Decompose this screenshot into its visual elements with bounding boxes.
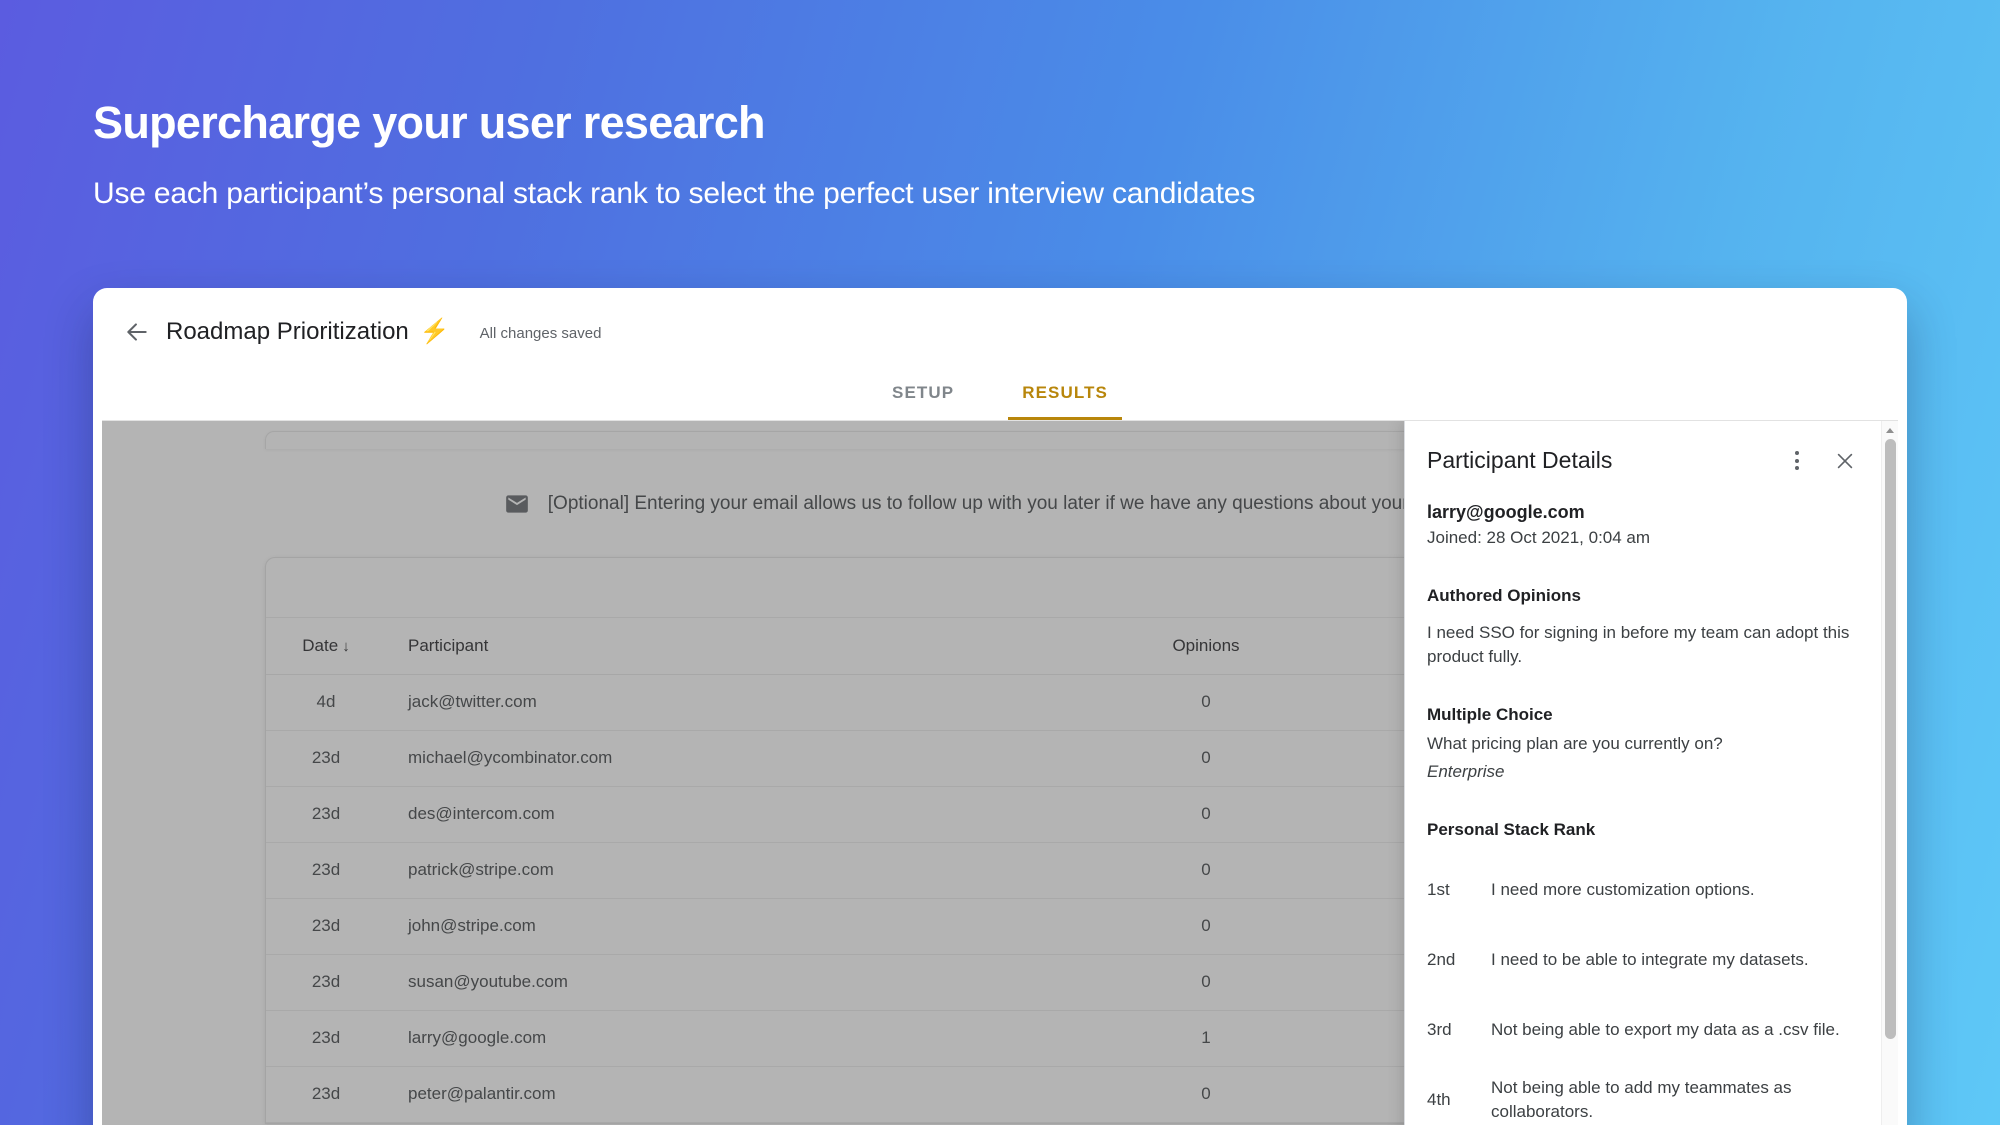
cell-date: 23d: [266, 1010, 386, 1066]
participant-details-content: Participant Details: [1405, 421, 1898, 1125]
cell-opinions: 0: [1026, 954, 1386, 1010]
cell-participant: patrick@stripe.com: [386, 842, 1026, 898]
cell-opinions: 0: [1026, 842, 1386, 898]
stack-rank-position: 3rd: [1427, 1020, 1491, 1040]
cell-date: 23d: [266, 1066, 386, 1122]
cell-participant: susan@youtube.com: [386, 954, 1026, 1010]
column-header-date-label: Date: [302, 636, 338, 655]
sort-arrow-icon: ↓: [342, 638, 350, 655]
section-personal-stack-rank: Personal Stack Rank 1st I need more cust…: [1427, 820, 1858, 1125]
app-header: Roadmap Prioritization ⚡ All changes sav…: [102, 297, 1898, 421]
section-multiple-choice: Multiple Choice What pricing plan are yo…: [1427, 705, 1858, 783]
cell-opinions: 0: [1026, 730, 1386, 786]
column-header-opinions[interactable]: Opinions: [1026, 618, 1386, 674]
hero-section: Supercharge your user research Use each …: [93, 98, 1893, 212]
back-arrow-icon[interactable]: [120, 315, 154, 349]
cell-opinions: 0: [1026, 674, 1386, 730]
cell-date: 23d: [266, 730, 386, 786]
kebab-menu-icon[interactable]: [1784, 448, 1810, 474]
stack-rank-list: 1st I need more customization options. 2…: [1427, 855, 1858, 1125]
cell-opinions: 0: [1026, 1066, 1386, 1122]
tab-bar: SETUP RESULTS: [102, 366, 1898, 420]
stack-rank-item: 1st I need more customization options.: [1427, 855, 1858, 925]
scroll-up-arrow-icon[interactable]: [1882, 421, 1899, 439]
cell-participant: jack@twitter.com: [386, 674, 1026, 730]
cell-participant: michael@ycombinator.com: [386, 730, 1026, 786]
cell-participant: peter@palantir.com: [386, 1066, 1026, 1122]
cell-date: 23d: [266, 786, 386, 842]
stack-rank-item: 3rd Not being able to export my data as …: [1427, 995, 1858, 1065]
mail-icon: [504, 491, 530, 517]
cell-participant: john@stripe.com: [386, 898, 1026, 954]
app-window: Roadmap Prioritization ⚡ All changes sav…: [93, 288, 1907, 1125]
cell-opinions: 0: [1026, 786, 1386, 842]
stack-rank-item: 2nd I need to be able to integrate my da…: [1427, 925, 1858, 995]
section-authored-opinions: Authored Opinions I need SSO for signing…: [1427, 586, 1858, 669]
tab-results[interactable]: RESULTS: [1008, 383, 1122, 420]
bolt-icon: ⚡: [420, 320, 450, 344]
column-header-date[interactable]: Date↓: [266, 618, 386, 674]
panel-header: Participant Details: [1427, 447, 1858, 474]
document-title[interactable]: Roadmap Prioritization: [166, 318, 409, 346]
stack-rank-position: 1st: [1427, 880, 1491, 900]
close-icon[interactable]: [1832, 448, 1858, 474]
cell-date: 23d: [266, 898, 386, 954]
scrollbar-thumb[interactable]: [1885, 439, 1896, 1039]
hero-title: Supercharge your user research: [93, 98, 1893, 148]
app-header-row: Roadmap Prioritization ⚡ All changes sav…: [102, 297, 1898, 367]
stack-rank-text: Not being able to export my data as a .c…: [1491, 1018, 1840, 1042]
authored-opinion-text: I need SSO for signing in before my team…: [1427, 621, 1858, 669]
panel-title: Participant Details: [1427, 447, 1612, 474]
page-root: Supercharge your user research Use each …: [0, 0, 2000, 1125]
tab-setup[interactable]: SETUP: [878, 383, 968, 420]
cell-date: 4d: [266, 674, 386, 730]
participant-details-panel: Participant Details: [1404, 421, 1898, 1125]
stack-rank-position: 2nd: [1427, 950, 1491, 970]
section-heading-authored-opinions: Authored Opinions: [1427, 586, 1858, 606]
cell-date: 23d: [266, 842, 386, 898]
stack-rank-text: I need to be able to integrate my datase…: [1491, 948, 1809, 972]
participant-joined: Joined: 28 Oct 2021, 0:04 am: [1427, 527, 1858, 550]
multiple-choice-question: What pricing plan are you currently on?: [1427, 732, 1858, 756]
email-note-text: [Optional] Entering your email allows us…: [548, 493, 1496, 515]
panel-scrollbar[interactable]: [1881, 421, 1898, 1125]
column-header-participant[interactable]: Participant: [386, 618, 1026, 674]
hero-subtitle: Use each participant’s personal stack ra…: [93, 175, 1893, 213]
scrollbar-track[interactable]: [1882, 439, 1899, 1125]
stack-rank-item: 4th Not being able to add my teammates a…: [1427, 1065, 1858, 1125]
cell-date: 23d: [266, 954, 386, 1010]
multiple-choice-answer: Enterprise: [1427, 760, 1858, 784]
stack-rank-text: I need more customization options.: [1491, 878, 1755, 902]
app-body: [Optional] Entering your email allows us…: [102, 421, 1898, 1125]
cell-opinions: 0: [1026, 898, 1386, 954]
app-window-inner: Roadmap Prioritization ⚡ All changes sav…: [102, 297, 1898, 1125]
panel-actions: [1784, 448, 1858, 474]
stack-rank-text: Not being able to add my teammates as co…: [1491, 1076, 1858, 1124]
save-status: All changes saved: [480, 322, 602, 342]
cell-opinions: 1: [1026, 1010, 1386, 1066]
section-heading-multiple-choice: Multiple Choice: [1427, 705, 1858, 725]
cell-participant: larry@google.com: [386, 1010, 1026, 1066]
section-heading-personal-stack-rank: Personal Stack Rank: [1427, 820, 1858, 840]
kebab-dots: [1795, 451, 1799, 470]
participant-email: larry@google.com: [1427, 500, 1858, 524]
stack-rank-position: 4th: [1427, 1090, 1491, 1110]
cell-participant: des@intercom.com: [386, 786, 1026, 842]
